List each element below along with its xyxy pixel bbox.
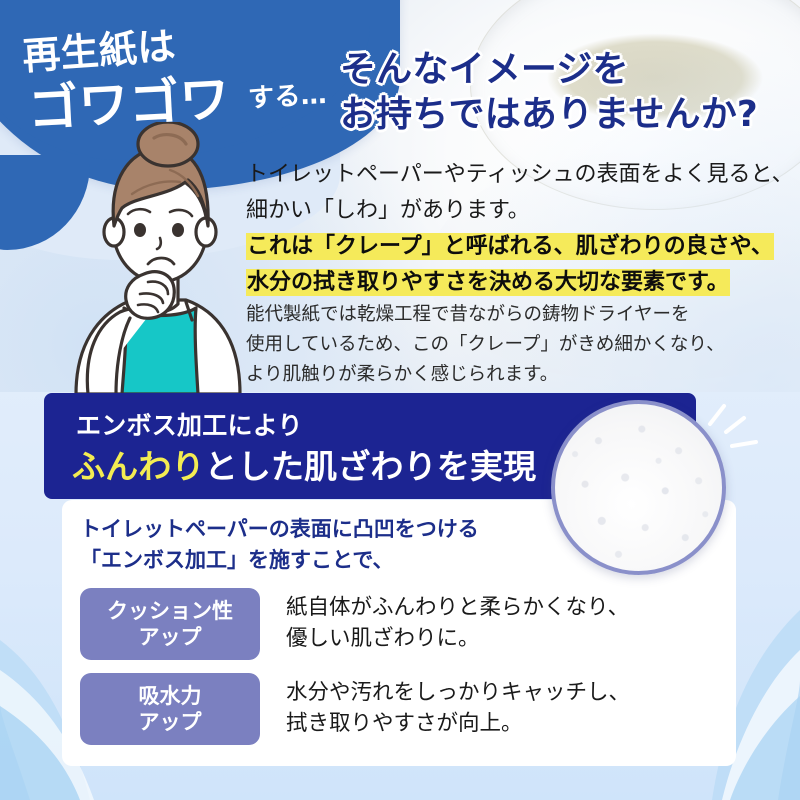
thinking-woman-illustration [58,122,258,394]
feature-cushion-desc-line-1: 紙自体がふんわりと柔らかくなり、 [286,593,629,624]
chip-absorption-up: 吸水力 アップ [80,673,260,745]
feature-row-absorption: 吸水力 アップ 水分や汚れをしっかりキャッチし、 拭き取りやすさが向上。 [80,673,630,745]
panel-lead-text: トイレットペーパーの表面に凸凹をつける 「エンボス加工」を施すことで、 [80,514,479,575]
infographic-page: 再生紙は ゴワゴワ する… そんなイメージを お持ちではありませんか? トイレッ… [0,0,800,800]
feature-row-cushion: クッション性 アップ 紙自体がふんわりと柔らかくなり、 優しい肌ざわりに。 [80,588,629,660]
chip-cushion-line-2: アップ [139,624,202,650]
feature-absorption-description: 水分や汚れをしっかりキャッチし、 拭き取りやすさが向上。 [286,678,630,739]
body-line-1: トイレットペーパーやティッシュの表面をよく見ると、 [246,157,794,193]
banner-line-2-rest: とした肌ざわりを実現 [205,447,537,486]
highlight-text-2: 水分の拭き取りやすさを決める大切な要素です。 [246,269,730,296]
highlight-text-1: これは「クレープ」と呼ばれる、肌ざわりの良さや、 [246,233,774,260]
sparkle-lines-icon [700,398,776,466]
chip-cushion-line-1: クッション性 [107,598,233,624]
feature-cushion-description: 紙自体がふんわりと柔らかくなり、 優しい肌ざわりに。 [286,593,629,654]
chip-absorption-line-1: 吸水力 [139,683,202,709]
chip-cushion-up: クッション性 アップ [80,588,260,660]
body-line-2: 細かい「しわ」があります。 [246,193,794,229]
body-highlight-line-2: 水分の拭き取りやすさを決める大切な要素です。 [246,265,794,301]
page-headline: そんなイメージを お持ちではありませんか? [340,48,758,137]
body-paragraph: トイレットペーパーやティッシュの表面をよく見ると、 細かい「しわ」があります。 … [246,157,794,301]
feature-absorption-desc-line-2: 拭き取りやすさが向上。 [286,709,630,740]
sub-paragraph: 能代製紙では乾燥工程で昔ながらの鋳物ドライヤーを 使用しているため、この「クレー… [246,300,725,390]
chip-absorption-line-2: アップ [139,709,202,735]
headline-line-2: お持ちではありませんか? [340,93,758,138]
headline-line-1: そんなイメージを [340,48,758,93]
feature-cushion-desc-line-2: 優しい肌ざわりに。 [286,624,629,655]
body-highlight-line-1: これは「クレープ」と呼ばれる、肌ざわりの良さや、 [246,229,794,265]
banner-line-2: ふんわりとした肌ざわりを実現 [72,440,536,488]
sub-line-1: 能代製紙では乾燥工程で昔ながらの鋳物ドライヤーを [246,300,725,330]
feature-absorption-desc-line-1: 水分や汚れをしっかりキャッチし、 [286,678,630,709]
sub-line-3: より肌触りが柔らかく感じられます。 [246,360,725,390]
sub-line-2: 使用しているため、この「クレープ」がきめ細かくなり、 [246,330,725,360]
bubble-text-line3: する… [247,74,328,115]
banner-line-1: エンボス加工により [76,406,303,442]
panel-lead-line-2: 「エンボス加工」を施すことで、 [80,545,479,576]
panel-lead-line-1: トイレットペーパーの表面に凸凹をつける [80,514,479,545]
banner-accent-text: ふんわり [72,447,205,486]
